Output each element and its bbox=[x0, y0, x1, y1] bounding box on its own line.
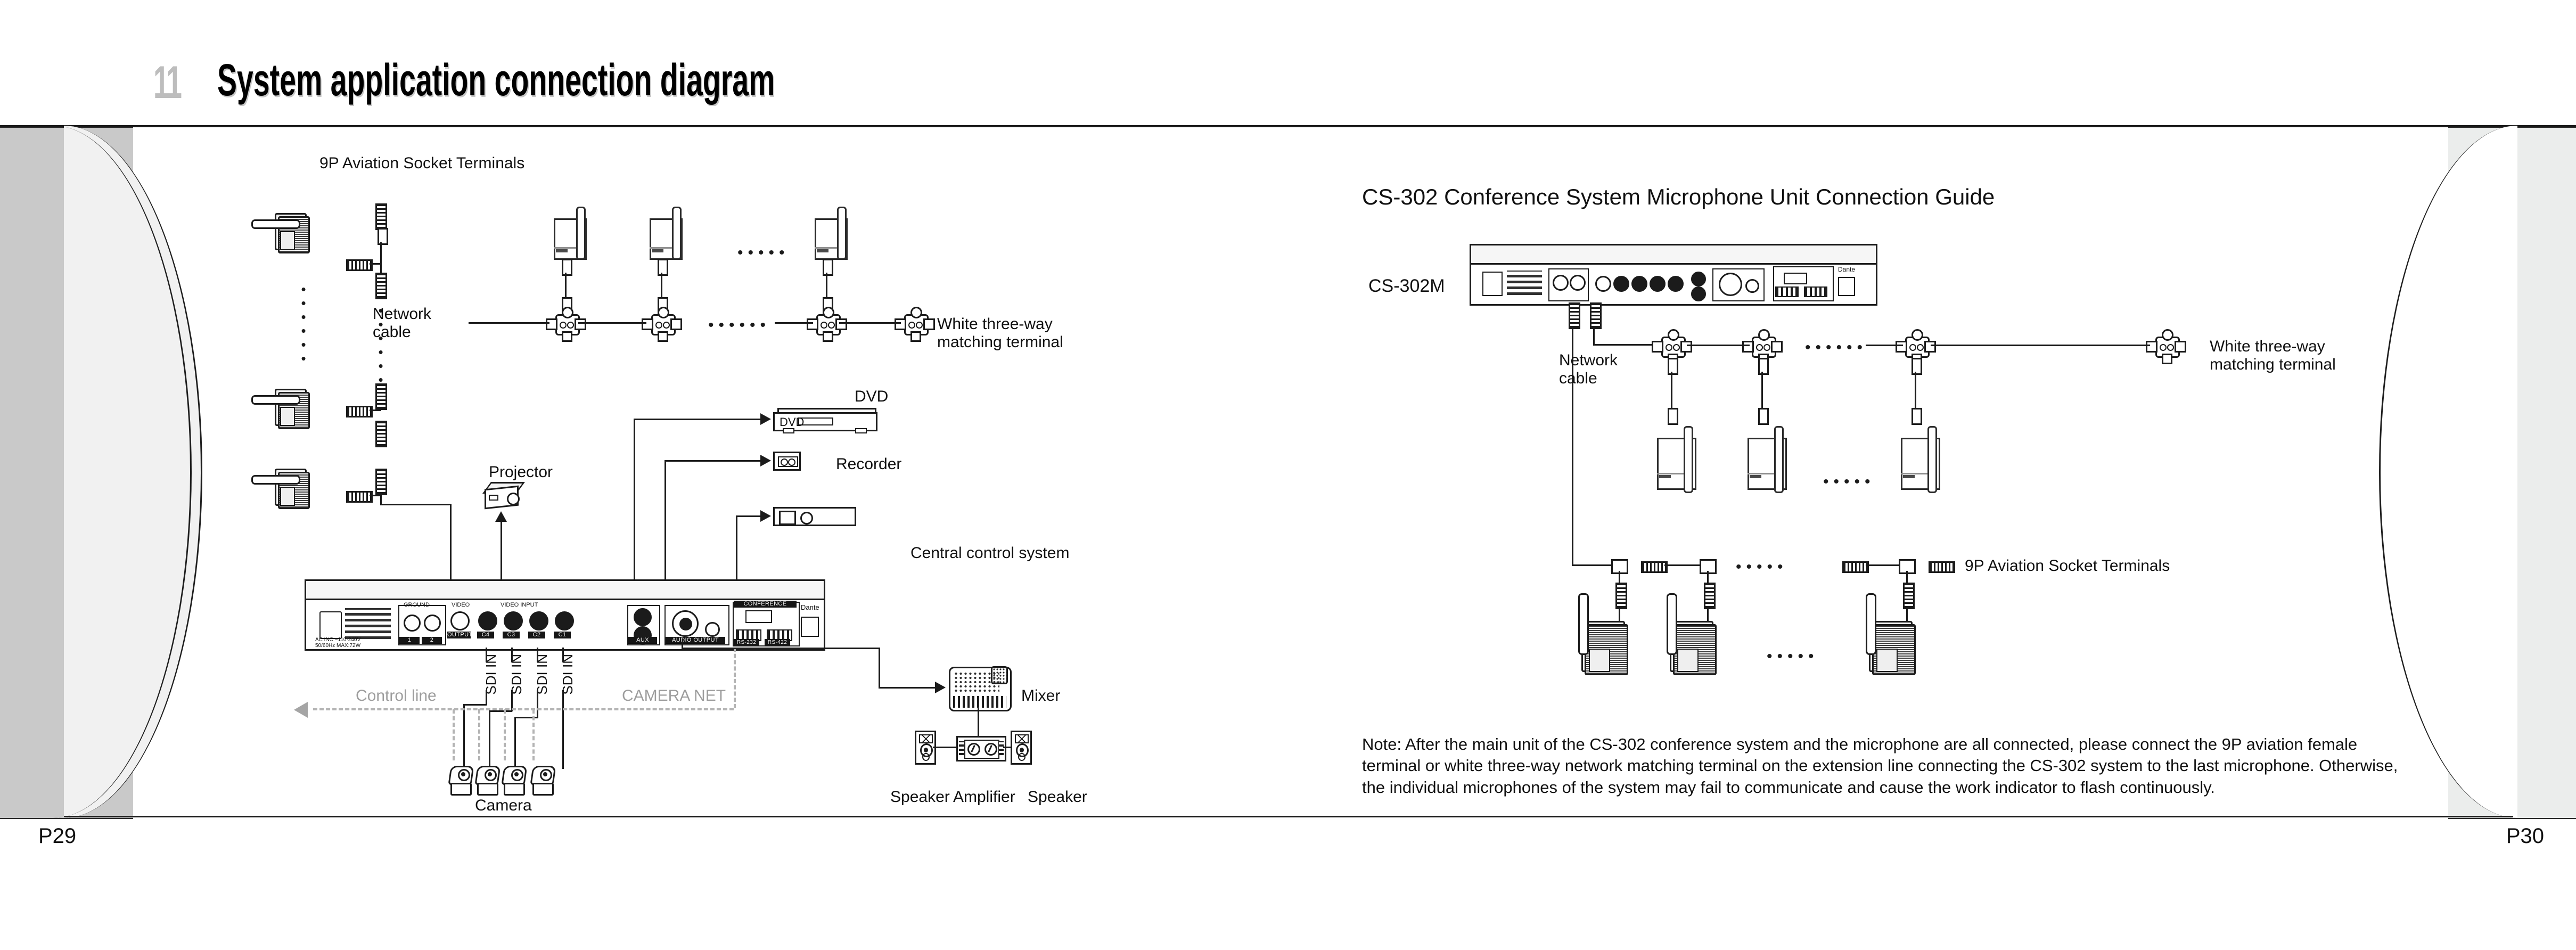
cable-segment bbox=[1915, 372, 1916, 409]
aviation-connector bbox=[1641, 561, 1668, 573]
label-video-input: VIDEO INPUT bbox=[501, 602, 538, 609]
cable-plug bbox=[562, 259, 572, 276]
cable-segment bbox=[826, 273, 827, 298]
label-amplifier: Amplifier bbox=[953, 788, 1015, 806]
chapter-number: 11 bbox=[153, 60, 181, 105]
aviation-connector bbox=[375, 421, 387, 447]
aviation-connector bbox=[1615, 583, 1627, 609]
cs302m-ac-inlet bbox=[1482, 272, 1503, 296]
sdi-cable-3 bbox=[537, 648, 538, 662]
central-control-system bbox=[773, 507, 856, 526]
cs302m-ground-jack-2 bbox=[1570, 275, 1586, 291]
note-paragraph: Note: After the main unit of the CS-302 … bbox=[1362, 734, 2400, 798]
recorder-device bbox=[773, 452, 801, 471]
sdi-cable-1 bbox=[463, 704, 465, 769]
cable-plug bbox=[1758, 358, 1769, 375]
camera-net-riser bbox=[734, 648, 736, 708]
aviation-connector bbox=[346, 406, 373, 417]
cable-segment bbox=[370, 495, 381, 496]
label-dvd-face: DVD bbox=[780, 415, 804, 429]
cs302m-drop-cable-2 bbox=[1593, 326, 1595, 345]
aviation-bus-line bbox=[1664, 564, 1701, 566]
manual-page-spread: 11 System application connection diagram… bbox=[0, 0, 2576, 950]
sdi-cable-4 bbox=[562, 648, 564, 662]
aviation-drop bbox=[1619, 606, 1620, 621]
sdi-cable-2 bbox=[511, 648, 513, 662]
page-number-right: P30 bbox=[2506, 824, 2544, 848]
cable-plug bbox=[1668, 408, 1678, 425]
label-recorder: Recorder bbox=[836, 455, 901, 473]
label-network-cable-right: Network cable bbox=[1559, 351, 1618, 388]
ceiling-microphone-unit bbox=[554, 207, 593, 258]
cable-segment bbox=[565, 273, 567, 298]
aviation-drop bbox=[1906, 606, 1908, 621]
port-caption-rs232: RS-232 bbox=[734, 639, 759, 646]
cs302m-aux-input-jack bbox=[1691, 272, 1706, 286]
sdi-cable-2 bbox=[489, 710, 490, 769]
cs302m-sdi-jack-c4 bbox=[1613, 276, 1629, 292]
network-bus-line bbox=[578, 322, 646, 324]
cable-plug bbox=[1758, 408, 1769, 425]
port-caption-audio-output: AUDIO OUTPUT bbox=[666, 637, 725, 644]
cable-plug bbox=[1912, 358, 1922, 375]
ceiling-microphone-unit bbox=[650, 207, 689, 258]
ptz-camera bbox=[447, 765, 472, 795]
ellipsis-network-bus-right: •••••• bbox=[1805, 340, 1867, 356]
signal-line-to-mixer bbox=[879, 687, 936, 689]
sdi-cable-3 bbox=[514, 717, 516, 769]
sdi-cable-3 bbox=[537, 690, 538, 718]
aux-input-jack[interactable] bbox=[634, 608, 652, 626]
cs302m-ground-jack-1 bbox=[1553, 275, 1569, 291]
port-caption-c2: C2 bbox=[528, 632, 545, 638]
ptz-camera bbox=[501, 765, 525, 795]
cs302m-sdi-jack-c2 bbox=[1650, 276, 1666, 292]
audio-output-xlr-core bbox=[679, 618, 692, 630]
three-way-matching-terminal bbox=[647, 311, 677, 335]
cable-plug bbox=[1668, 358, 1678, 375]
aviation-connector bbox=[1842, 561, 1869, 573]
three-way-matching-terminal-end bbox=[900, 311, 930, 335]
ac-inlet bbox=[319, 611, 342, 639]
cable-segment bbox=[380, 242, 382, 274]
arrow-to-ccs bbox=[760, 510, 771, 522]
three-way-matching-terminal bbox=[812, 311, 842, 335]
right-spine-curve bbox=[2379, 126, 2517, 818]
cs302m-aux-output-jack bbox=[1691, 286, 1706, 301]
arrow-to-mixer bbox=[935, 682, 946, 693]
camera-net-drop bbox=[504, 709, 506, 760]
cs302m-dante-logo: Dante bbox=[1838, 266, 1855, 274]
label-speaker-left: Speaker bbox=[890, 788, 950, 806]
ellipsis-mic-row: ••••• bbox=[737, 245, 790, 261]
aviation-bus-feed bbox=[1572, 564, 1612, 566]
three-way-matching-terminal bbox=[1748, 333, 1777, 358]
footer-rule bbox=[64, 816, 2513, 817]
ellipsis-vertical-mic-units: •••••• bbox=[298, 282, 309, 365]
port-caption-aux: AUX bbox=[628, 637, 657, 644]
page-number-left: P29 bbox=[38, 824, 76, 848]
sdi-jack-c2 bbox=[529, 611, 548, 630]
db9-connector bbox=[745, 610, 772, 623]
camera-net-drop bbox=[453, 709, 455, 760]
cs302m-audio-output-trs bbox=[1745, 279, 1759, 293]
label-speaker-right: Speaker bbox=[1028, 788, 1087, 806]
aviation-drop bbox=[1906, 571, 1908, 584]
label-network-cable-left: Network cable bbox=[373, 305, 431, 341]
signal-line-to-recorder bbox=[664, 460, 666, 597]
signal-line-to-dvd bbox=[634, 419, 761, 420]
port-caption-2: 2 bbox=[422, 637, 442, 644]
aviation-connector bbox=[346, 259, 373, 271]
cable-run-to-main-unit bbox=[380, 504, 452, 505]
ceiling-microphone-unit bbox=[1748, 426, 1796, 492]
cs302m-sdi-jack-c3 bbox=[1631, 276, 1647, 292]
sdi-jack-c1 bbox=[555, 611, 574, 630]
desk-microphone-unit bbox=[275, 213, 308, 251]
page-title: System application connection diagram bbox=[217, 58, 775, 102]
label-9p-aviation-terminals-right: 9P Aviation Socket Terminals bbox=[1965, 557, 2170, 575]
cable-plug bbox=[823, 259, 833, 276]
desk-microphone-unit bbox=[275, 389, 308, 427]
desk-microphone-unit bbox=[1670, 621, 1716, 674]
aviation-connector-female bbox=[1929, 561, 1955, 573]
ceiling-microphone-unit bbox=[815, 207, 854, 258]
three-way-matching-terminal-end bbox=[2151, 333, 2181, 358]
arrow-to-projector bbox=[495, 511, 507, 522]
port-caption-rs422: RS-422 bbox=[765, 639, 790, 646]
signal-line-to-recorder bbox=[664, 460, 761, 462]
label-dvd-title: DVD bbox=[855, 388, 888, 406]
label-video: VIDEO bbox=[452, 602, 470, 609]
three-way-matching-terminal bbox=[1901, 333, 1931, 358]
ellipsis-aviation-chain: ••••• bbox=[1736, 559, 1788, 575]
aviation-connector bbox=[346, 491, 373, 503]
label-white-three-way-terminal-right: White three-way matching terminal bbox=[2210, 338, 2336, 374]
aviation-connector bbox=[375, 273, 387, 299]
camera-net-drop bbox=[532, 709, 535, 760]
aviation-connector bbox=[375, 383, 387, 410]
sdi-cable-1 bbox=[486, 690, 487, 705]
cs302m-drop-connector-1 bbox=[1569, 302, 1580, 329]
right-page-title: CS-302 Conference System Microphone Unit… bbox=[1362, 184, 1995, 210]
signal-line-to-mixer bbox=[682, 641, 683, 649]
signal-line-to-dvd bbox=[634, 419, 635, 597]
ellipsis-mic-row-right: ••••• bbox=[1823, 474, 1875, 490]
cs302m-ventilation-grill bbox=[1507, 271, 1542, 295]
aviation-bus-line bbox=[1866, 564, 1900, 566]
left-spine-curve-inner bbox=[53, 126, 192, 818]
sdi-cable-1 bbox=[463, 704, 487, 706]
port-caption-c1: C1 bbox=[554, 632, 571, 638]
cable-segment bbox=[370, 263, 381, 265]
audio-output-trs bbox=[705, 622, 720, 637]
sdi-cable-2 bbox=[489, 710, 512, 712]
cable-segment bbox=[380, 492, 382, 505]
cable-plug bbox=[1912, 408, 1922, 425]
port-caption-c3: C3 bbox=[503, 632, 520, 638]
desk-microphone-unit bbox=[275, 469, 308, 507]
label-conference-system: CONFERENCE SYSTEM bbox=[734, 601, 797, 608]
cs302m-bus-feed bbox=[1593, 344, 1658, 346]
desk-microphone-unit bbox=[1869, 621, 1915, 674]
port-caption-1: 1 bbox=[399, 637, 420, 644]
port-caption-output: OUTPUT bbox=[447, 632, 471, 638]
dante-rj45-port bbox=[801, 617, 819, 637]
power-amplifier bbox=[956, 736, 1006, 761]
ground-jack-2 bbox=[424, 615, 441, 632]
aviation-drop bbox=[1707, 606, 1709, 621]
amp-to-left-speaker bbox=[933, 747, 957, 748]
ptz-camera bbox=[474, 765, 498, 795]
cable-segment bbox=[661, 273, 662, 298]
ground-jack-1 bbox=[404, 615, 421, 632]
aviation-drop bbox=[1707, 571, 1709, 584]
speaker-right bbox=[1011, 731, 1032, 765]
arrow-control-line bbox=[294, 702, 308, 718]
network-bus-line bbox=[1687, 345, 1750, 346]
cs302m-drop-connector-2 bbox=[1590, 302, 1602, 329]
label-ground: GROUND bbox=[404, 602, 430, 609]
sdi-jack-c3 bbox=[504, 611, 523, 630]
network-bus-line bbox=[469, 322, 549, 324]
label-mixer: Mixer bbox=[1021, 687, 1060, 705]
label-projector: Projector bbox=[489, 463, 553, 481]
label-cs302m: CS-302M bbox=[1368, 276, 1445, 297]
mixer-to-amp-line bbox=[978, 708, 979, 736]
ellipsis-network-bus: •••••• bbox=[708, 317, 770, 333]
cs302m-video-output-jack bbox=[1595, 276, 1611, 292]
desk-microphone-unit bbox=[1581, 621, 1627, 674]
ceiling-microphone-unit bbox=[1901, 426, 1950, 492]
sdi-cable-4 bbox=[562, 690, 564, 769]
projector-device bbox=[485, 482, 522, 506]
dante-logo: Dante bbox=[801, 604, 819, 612]
signal-line-to-mixer bbox=[682, 648, 880, 649]
aviation-connector bbox=[375, 469, 387, 495]
cable-plug bbox=[378, 228, 388, 245]
control-line-dashed bbox=[313, 708, 734, 710]
three-way-matching-terminal bbox=[1657, 333, 1687, 358]
label-9p-aviation-terminals-left: 9P Aviation Socket Terminals bbox=[319, 154, 524, 173]
header-rule bbox=[0, 125, 2576, 127]
signal-line-to-mixer bbox=[879, 648, 880, 688]
cs302m-audio-output-xlr bbox=[1719, 273, 1742, 296]
label-camera-net: CAMERA NET bbox=[622, 687, 726, 705]
signal-line-to-ccs bbox=[736, 515, 761, 517]
ptz-camera bbox=[529, 765, 554, 795]
network-bus-line bbox=[839, 322, 901, 324]
cs302m-sdi-jack-c1 bbox=[1668, 276, 1684, 292]
amp-to-right-speaker bbox=[1003, 747, 1012, 748]
cs302m-rs232-block bbox=[1775, 286, 1799, 297]
arrow-to-dvd bbox=[760, 413, 771, 425]
aviation-connector bbox=[375, 203, 387, 230]
arrow-to-recorder bbox=[760, 455, 771, 466]
cable-segment bbox=[1761, 372, 1763, 409]
label-camera: Camera bbox=[475, 797, 532, 815]
ceiling-microphone-unit bbox=[1657, 426, 1706, 492]
network-bus-line bbox=[1866, 345, 1903, 346]
aviation-connector bbox=[1704, 583, 1716, 609]
label-control-line: Control line bbox=[356, 687, 437, 705]
dvd-foot bbox=[783, 428, 794, 433]
cs302m-dante-rj45 bbox=[1838, 277, 1855, 296]
aviation-connector bbox=[1903, 583, 1915, 609]
three-way-matching-terminal bbox=[551, 311, 581, 335]
ellipsis-desk-mic-row: ••••• bbox=[1767, 649, 1819, 665]
network-bus-line bbox=[775, 322, 813, 324]
ac-line-rating: AC INC ~110-240V 50/60Hz MAX:72W bbox=[315, 637, 360, 649]
aviation-drop bbox=[1619, 571, 1620, 584]
video-output-jack bbox=[450, 611, 470, 630]
cs302m-rs422-block bbox=[1804, 286, 1827, 297]
sdi-jack-c4 bbox=[478, 611, 497, 630]
dvd-foot bbox=[855, 428, 867, 433]
ventilation-grill bbox=[345, 608, 391, 639]
cable-segment bbox=[370, 410, 381, 411]
label-central-control-system: Central control system bbox=[910, 544, 1069, 562]
camera-net-drop bbox=[478, 709, 480, 760]
cs302m-db9-connector bbox=[1784, 273, 1807, 284]
network-bus-line bbox=[1931, 345, 2150, 346]
audio-mixer bbox=[949, 667, 1012, 711]
port-caption-c4: C4 bbox=[477, 632, 494, 638]
cable-segment bbox=[1671, 372, 1672, 409]
sdi-cable-1 bbox=[486, 648, 487, 662]
cable-plug bbox=[658, 259, 668, 276]
label-white-three-way-terminal-left: White three-way matching terminal bbox=[937, 315, 1063, 351]
